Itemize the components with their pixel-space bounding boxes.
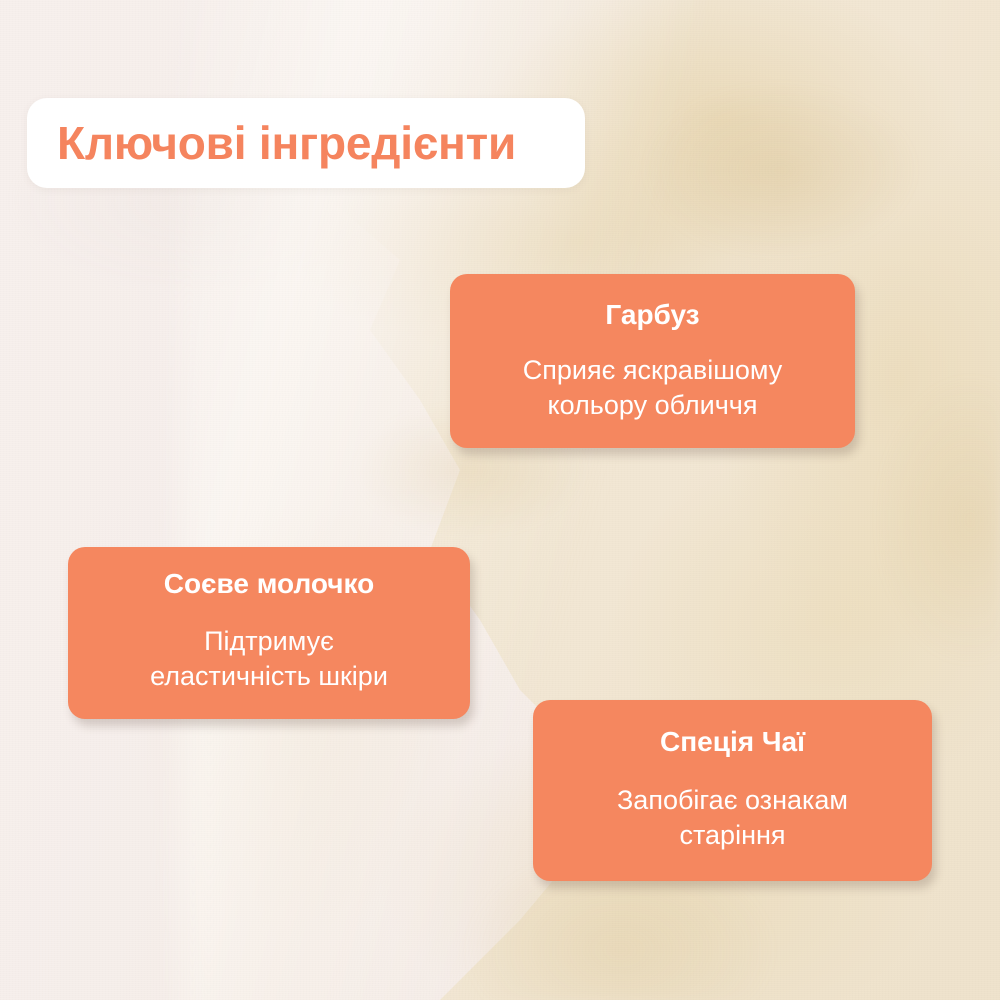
ingredient-card-pumpkin: Гарбуз Сприяє яскравішомукольору обличчя [450, 274, 855, 448]
ingredient-card-body: Підтримуєеластичність шкіри [150, 624, 388, 695]
ingredient-card-title: Соєве молочко [164, 569, 375, 600]
page-title: Ключові інгредієнти [57, 120, 516, 166]
ingredient-card-soy-milk: Соєве молочко Підтримуєеластичність шкір… [68, 547, 470, 719]
ingredient-card-body: Сприяє яскравішомукольору обличчя [523, 353, 782, 424]
ingredient-card-title: Гарбуз [605, 300, 699, 331]
ingredient-card-title: Спеція Чаї [660, 727, 805, 758]
page-title-pill: Ключові інгредієнти [27, 98, 585, 188]
ingredient-card-chai-spice: Спеція Чаї Запобігає ознакамстаріння [533, 700, 932, 881]
infographic-canvas: Ключові інгредієнти Гарбуз Сприяє яскрав… [0, 0, 1000, 1000]
ingredient-card-body: Запобігає ознакамстаріння [617, 783, 848, 854]
